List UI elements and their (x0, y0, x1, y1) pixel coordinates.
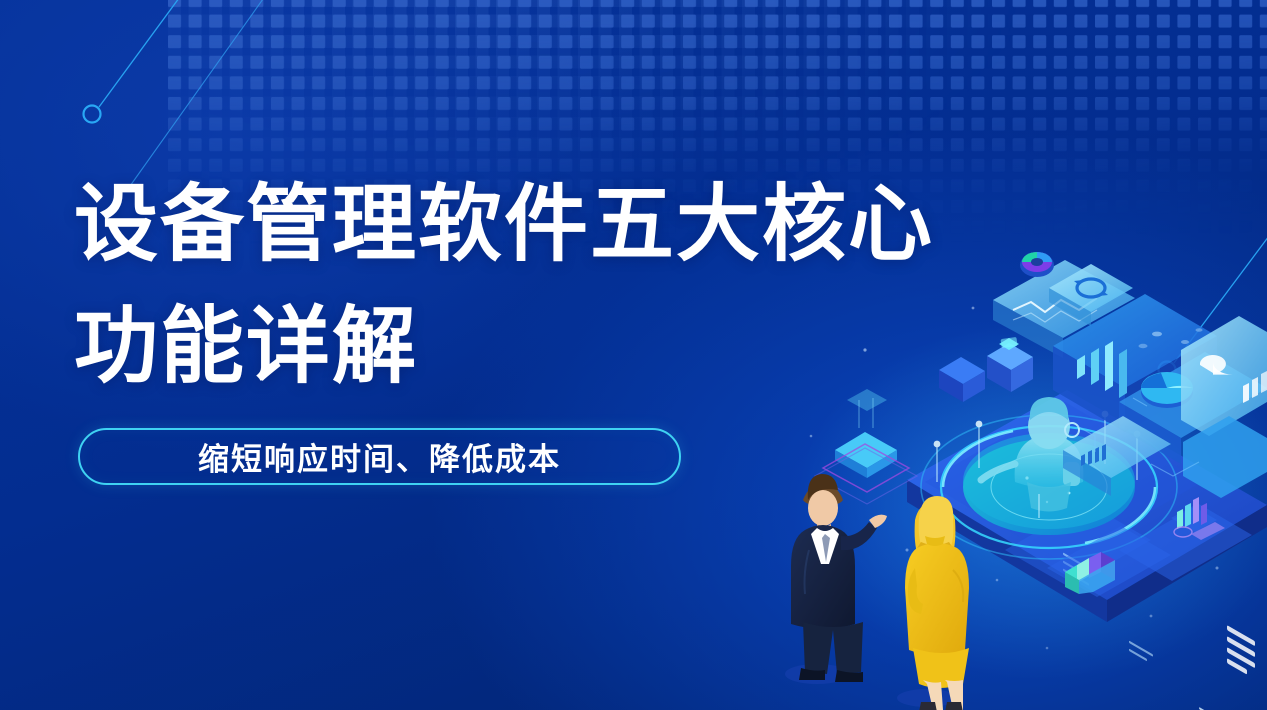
subtitle-text: 缩短响应时间、降低成本 (198, 434, 561, 479)
donut-chart-icon (1020, 252, 1054, 277)
title-line-2: 功能详解 (74, 298, 934, 394)
subtitle-box: 缩短响应时间、降低成本 (78, 428, 681, 485)
diagonal-accent-line-left (99, 0, 182, 107)
circle-node-left (84, 106, 101, 123)
diagonal-accent-line-mid (130, 0, 268, 186)
headline-block: 设备管理软件五大核心 功能详解 (74, 176, 934, 394)
title-line-1: 设备管理软件五大核心 (74, 176, 934, 272)
poster-canvas: 设备管理软件五大核心 功能详解 缩短响应时间、降低成本 (0, 0, 1267, 710)
